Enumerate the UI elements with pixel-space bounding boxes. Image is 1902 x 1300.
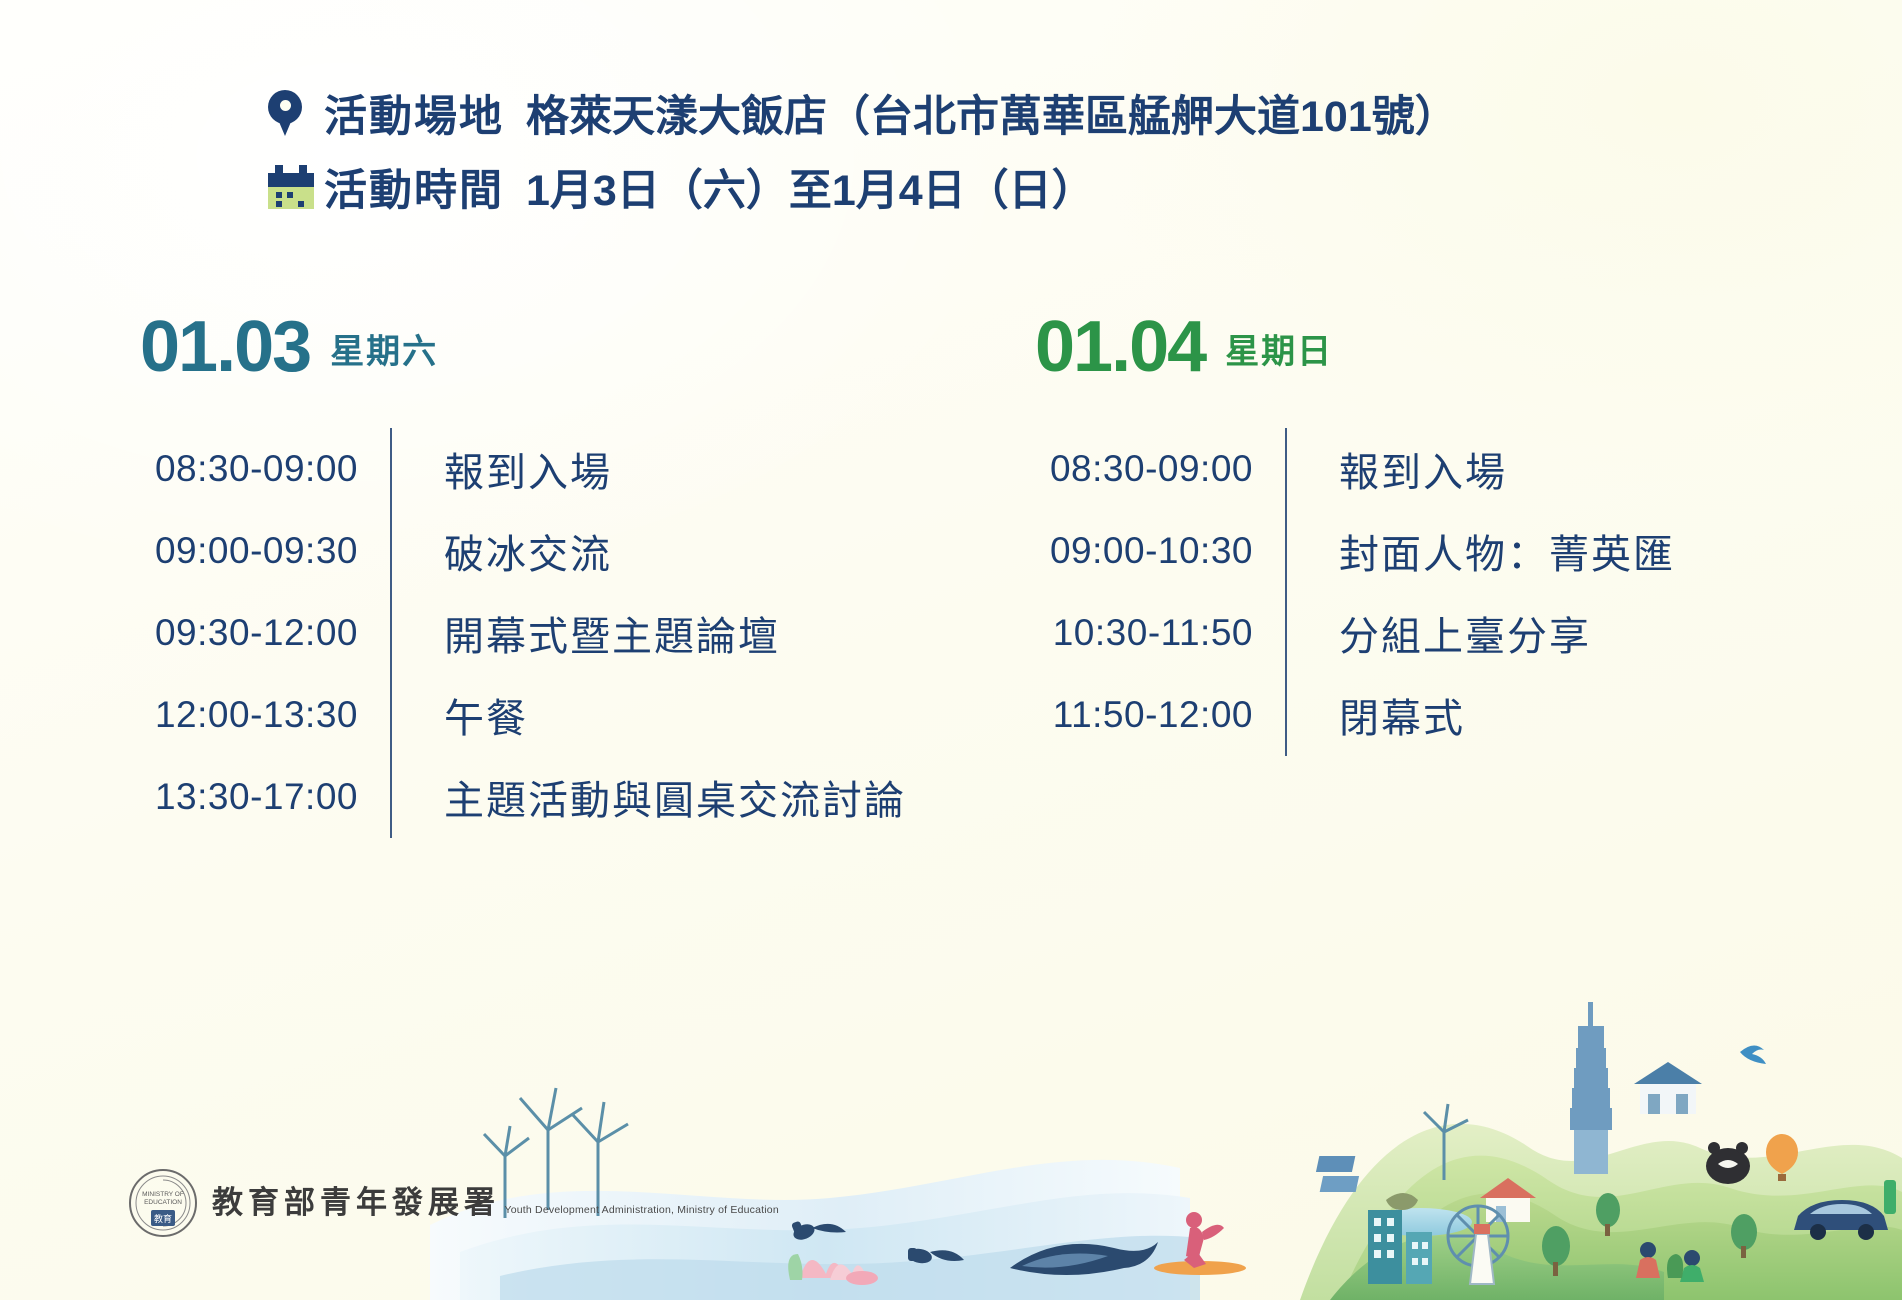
row-time: 09:30-12:00 bbox=[140, 612, 390, 654]
row-time: 09:00-09:30 bbox=[140, 530, 390, 572]
time-label: 活動時間 bbox=[324, 156, 504, 218]
row-time: 10:30-11:50 bbox=[1035, 612, 1285, 654]
row-divider bbox=[1285, 428, 1287, 510]
svg-text:MINISTRY OF: MINISTRY OF bbox=[142, 1191, 184, 1198]
schedule-row: 08:30-09:00 報到入場 bbox=[1035, 428, 1675, 510]
day-header: 01.03 星期六 bbox=[140, 306, 906, 380]
day-header: 01.04 星期日 bbox=[1035, 306, 1675, 380]
row-divider bbox=[390, 592, 392, 674]
row-divider bbox=[1285, 510, 1287, 592]
day-weekday: 星期六 bbox=[330, 324, 438, 373]
row-title: 分組上臺分享 bbox=[1287, 604, 1591, 662]
svg-text:EDUCATION: EDUCATION bbox=[144, 1199, 182, 1206]
svg-text:教育: 教育 bbox=[154, 1213, 172, 1224]
day-column-0103: 01.03 星期六 08:30-09:00 報到入場 09:00-09:30 破… bbox=[140, 306, 906, 838]
row-divider bbox=[1285, 592, 1287, 674]
event-info-block: 活動場地 格萊天漾大飯店（台北市萬華區艋舺大道101號） 活動時間 1月3日（六… bbox=[268, 82, 1458, 218]
calendar-icon bbox=[268, 165, 324, 209]
venue-value: 格萊天漾大飯店（台北市萬華區艋舺大道101號） bbox=[526, 82, 1458, 144]
row-time: 09:00-10:30 bbox=[1035, 530, 1285, 572]
schedule-list: 08:30-09:00 報到入場 09:00-09:30 破冰交流 09:30-… bbox=[140, 428, 906, 838]
schedule-row: 11:50-12:00 閉幕式 bbox=[1035, 674, 1675, 756]
schedule-row: 13:30-17:00 主題活動與圓桌交流討論 bbox=[140, 756, 906, 838]
organization-logo: MINISTRY OF EDUCATION 教育 教育部青年發展署 Youth … bbox=[128, 1168, 779, 1238]
row-divider bbox=[390, 756, 392, 838]
schedule-row: 09:00-09:30 破冰交流 bbox=[140, 510, 906, 592]
time-row: 活動時間 1月3日（六）至1月4日（日） bbox=[268, 156, 1458, 218]
row-title: 報到入場 bbox=[392, 440, 612, 498]
row-title: 報到入場 bbox=[1287, 440, 1507, 498]
row-time: 12:00-13:30 bbox=[140, 694, 390, 736]
logo-name-en: Youth Development Administration, Minist… bbox=[504, 1204, 778, 1216]
ministry-of-education-seal-icon: MINISTRY OF EDUCATION 教育 bbox=[128, 1168, 198, 1238]
schedule-row: 12:00-13:30 午餐 bbox=[140, 674, 906, 756]
row-title: 開幕式暨主題論壇 bbox=[392, 604, 780, 662]
poster-canvas: 活動場地 格萊天漾大飯店（台北市萬華區艋舺大道101號） 活動時間 1月3日（六… bbox=[0, 0, 1902, 1300]
schedule-list: 08:30-09:00 報到入場 09:00-10:30 封面人物：菁英匯 10… bbox=[1035, 428, 1675, 756]
schedule-row: 10:30-11:50 分組上臺分享 bbox=[1035, 592, 1675, 674]
row-title: 主題活動與圓桌交流討論 bbox=[392, 768, 906, 826]
day-number: 01.03 bbox=[140, 314, 310, 380]
row-time: 08:30-09:00 bbox=[140, 448, 390, 490]
row-divider bbox=[390, 510, 392, 592]
schedule-row: 08:30-09:00 報到入場 bbox=[140, 428, 906, 510]
row-title: 破冰交流 bbox=[392, 522, 612, 580]
row-divider bbox=[390, 428, 392, 510]
venue-row: 活動場地 格萊天漾大飯店（台北市萬華區艋舺大道101號） bbox=[268, 82, 1458, 144]
row-title: 閉幕式 bbox=[1287, 686, 1465, 744]
row-title: 午餐 bbox=[392, 686, 528, 744]
row-divider bbox=[1285, 674, 1287, 756]
time-value: 1月3日（六）至1月4日（日） bbox=[526, 156, 1095, 218]
row-divider bbox=[390, 674, 392, 756]
location-pin-icon bbox=[268, 90, 324, 136]
row-time: 11:50-12:00 bbox=[1035, 694, 1285, 736]
logo-text-block: 教育部青年發展署 Youth Development Administratio… bbox=[212, 1187, 779, 1220]
day-weekday: 星期日 bbox=[1225, 324, 1333, 373]
row-time: 08:30-09:00 bbox=[1035, 448, 1285, 490]
logo-name-cn: 教育部青年發展署 bbox=[212, 1185, 500, 1220]
day-number: 01.04 bbox=[1035, 314, 1205, 380]
row-title: 封面人物：菁英匯 bbox=[1287, 522, 1675, 580]
day-column-0104: 01.04 星期日 08:30-09:00 報到入場 09:00-10:30 封… bbox=[1035, 306, 1675, 756]
venue-label: 活動場地 bbox=[324, 82, 504, 144]
row-time: 13:30-17:00 bbox=[140, 776, 390, 818]
schedule-row: 09:00-10:30 封面人物：菁英匯 bbox=[1035, 510, 1675, 592]
schedule-row: 09:30-12:00 開幕式暨主題論壇 bbox=[140, 592, 906, 674]
